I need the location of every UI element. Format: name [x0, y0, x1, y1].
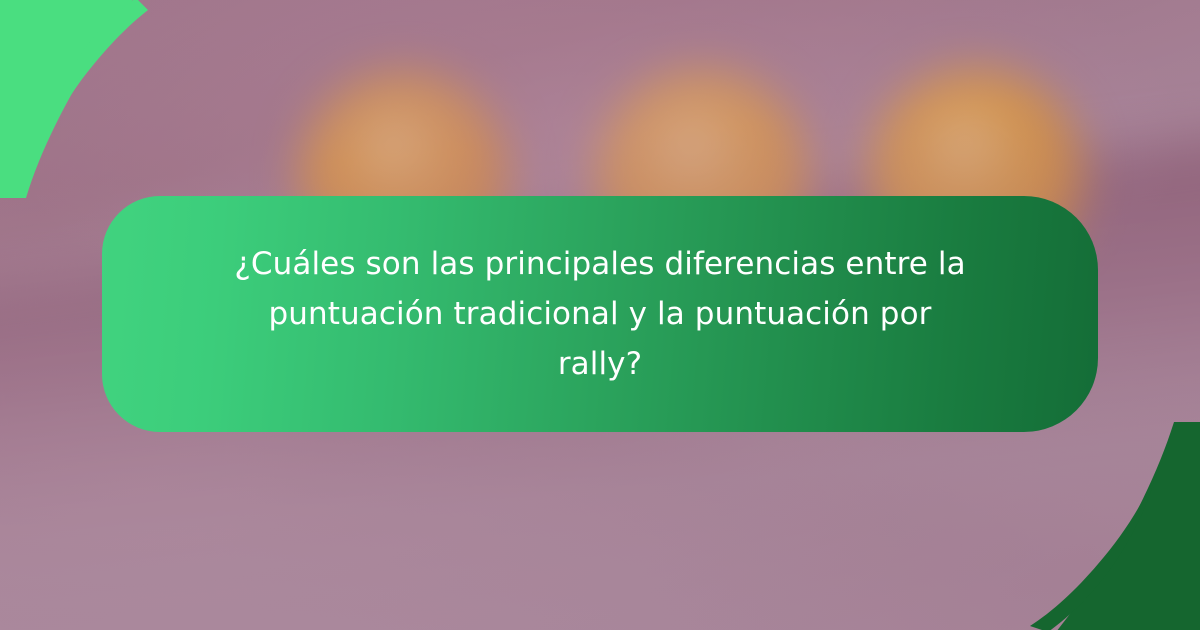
question-card: ¿Cuáles son las principales diferencias … [102, 196, 1098, 432]
question-card-banner: ¿Cuáles son las principales diferencias … [0, 0, 1200, 630]
question-text: ¿Cuáles son las principales diferencias … [230, 239, 970, 390]
